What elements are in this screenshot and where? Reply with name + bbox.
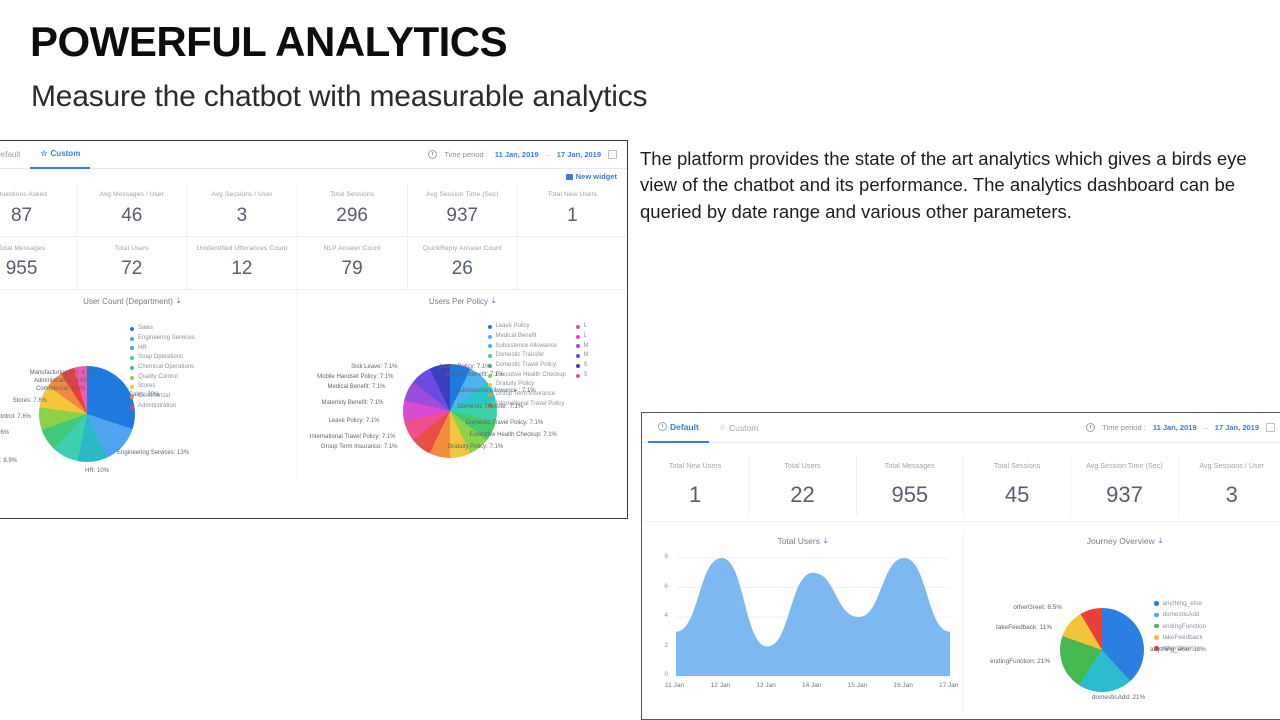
legend-item[interactable]: Subsistence Allowance [488,342,566,352]
clock-icon [1086,423,1095,432]
legend-color-swatch [130,366,134,370]
kpi-label: Total Messages [0,244,74,254]
dashboard1-topbar: Default ☆ Custom Time period : 11 Jan, 2… [0,141,627,169]
clock-icon [428,150,437,159]
legend-color-swatch [1154,601,1159,606]
kpi-value: 26 [410,258,515,280]
kpi-value: 87 [0,205,74,227]
y-axis-tick: 6 [656,583,668,590]
time-period-separator: – [1204,423,1208,432]
legend-color-swatch [130,337,134,341]
pie-area: anything_elsedomesticAddendingFunctionta… [964,546,1280,720]
kpi-label: Total Users [79,244,184,254]
y-axis-tick: 4 [656,612,668,619]
x-axis-tick: 13 Jan [756,682,776,689]
legend-label: Executive Health Checkup [496,371,566,381]
legend-label: Leave Policy [496,322,530,332]
download-icon[interactable]: ⤓ [824,536,828,546]
kpi-empty-slot [518,237,627,290]
time-period-label: Time period : [444,150,488,159]
pie-slice-label: Medical Benefit: 7.1% [446,372,504,378]
pie-slice-label: Group Term Insurance: 7.1% [321,444,398,450]
pie-slice-label: Gratuity Policy: 7.1% [448,444,504,450]
tab-default-label: Default [0,150,20,159]
legend-item[interactable]: L [576,322,589,332]
legend-label: Engineering Services [138,334,195,344]
legend-color-swatch [488,335,492,339]
area-chart-svg[interactable] [642,550,964,700]
tab-custom-label: Custom [51,149,81,158]
chart-title: User Count (Department) ⤓ [0,296,297,306]
chart-user-count-department: User Count (Department) ⤓ SalesEngineeri… [0,290,297,480]
kpi-value: 937 [1073,482,1175,508]
pie-legend-department: SalesEngineering ServicesHRSoap Operatio… [130,324,195,411]
kpi-label: Total Users [751,462,853,472]
legend-item[interactable]: S [576,361,589,371]
pie-slice-label: Executive Health Checkup: 7.1% [470,432,557,438]
time-period-start[interactable]: 11 Jan, 2019 [495,150,539,159]
kpi-value: 296 [300,205,405,227]
legend-color-swatch [576,374,580,378]
legend-label: domesticAdd [1163,609,1200,620]
pie-slice-label: Medical Benefit: 7.1% [327,384,385,390]
legend-color-swatch [130,346,134,350]
pie-area: SalesEngineering ServicesHRSoap Operatio… [0,306,297,490]
kpi-value: 955 [0,258,74,280]
pie-slice-label: Soap Operations: 8.9% [0,458,17,464]
description-paragraph: The platform provides the state of the a… [640,146,1262,225]
legend-color-swatch [576,325,580,329]
pie-slice-label: Mobile Handset Policy: 7.1% [317,374,393,380]
kpi-label: Avg Sessions / User [1181,462,1280,472]
pie-slice-label: Quality Control: 7.6% [0,414,31,420]
kpi-total-sessions: Total Sessions 296 [298,183,408,236]
pie-slice-label: Leave Policy: 7.1% [440,364,491,370]
kpi-value: 79 [300,258,405,280]
legend-label: Domestic Transfer [496,351,545,361]
pie-slice-label: Leave Policy: 7.1% [328,418,379,424]
legend-color-swatch [1154,613,1159,618]
legend-label: Subsistence Allowance [496,342,557,352]
legend-item[interactable]: Medical Benefit [488,332,566,342]
pie-slice-label: Subsistence Allowance : 7.1% [456,388,536,394]
legend-label: S [584,361,588,371]
kpi-label: Avg Session Time (Sec) [410,190,515,200]
page-subtitle: Measure the chatbot with measurable anal… [31,80,647,114]
time-period-end[interactable]: 17 Jan, 2019 [1215,423,1259,432]
kpi-value: 72 [79,258,184,280]
kpi-label: NLP Answer Count [300,244,405,254]
legend-label: Medical Benefit [496,332,537,342]
pie-legend-policy-secondary: LLMMSS [576,322,589,380]
analytics-dashboard-screenshot-2: Default ☆ Custom Time period : 11 Jan, 2… [641,412,1280,720]
legend-label: Administration [138,402,176,412]
kpi-avg-messages-per-user: Avg Messages / User 46 [77,183,187,236]
pie-legend-policy: Leave PolicyMedical BenefitSubsistence A… [488,322,566,409]
dashboard1-kpi-row-2: Total Messages 955 Total Users 72 Uniden… [0,236,627,291]
legend-label: Chemical Operations [138,363,194,373]
legend-item[interactable]: Quality Control [130,373,195,383]
dashboard1-charts: User Count (Department) ⤓ SalesEngineeri… [0,290,627,480]
legend-item[interactable]: L [576,332,589,342]
legend-color-swatch [130,385,134,389]
calendar-icon[interactable] [1266,423,1275,432]
tab-custom[interactable]: ☆ Custom [30,140,90,169]
kpi-value: 1 [520,205,625,227]
kpi-total-new-users: Total New Users 1 [642,455,749,517]
legend-color-swatch [576,344,580,348]
legend-item[interactable]: Sales [130,324,195,334]
tab-default-label: Default [670,422,699,432]
legend-label: Stores [138,382,155,392]
legend-item[interactable]: Leave Policy [488,322,566,332]
chart-users-per-policy: Users Per Policy ⤓ Leave PolicyMedical B… [297,290,628,480]
kpi-avg-session-time: Avg Session Time (Sec) 937 [1071,455,1178,517]
pie-slice-label: Manufacturing HR: 4.5% [30,370,95,376]
kpi-total-users: Total Users 72 [77,237,187,290]
pie-slice-label: Commercial: 6.0% [36,386,85,392]
clock-icon [658,422,667,431]
legend-label: L [584,322,587,332]
x-axis-tick: 17 Jan [939,682,959,689]
area-chart-area[interactable]: 02468 11 Jan12 Jan13 Jan14 Jan15 Jan16 J… [642,546,963,720]
pie-slice-label: endingFunction: 21% [990,658,1050,665]
pie-slice-label: Stores: 7.6% [13,398,47,404]
x-axis-tick: 14 Jan [802,682,822,689]
pie-slice-label: Domestic Transfer: 7.1% [458,404,524,410]
chart-title: Journey Overview ⤓ [964,536,1280,546]
kpi-quickreply-answer-count: QuickReply Answer Count 26 [408,237,518,290]
chart-title-text: Journey Overview [1087,536,1155,546]
analytics-dashboard-screenshot-1: Default ☆ Custom Time period : 11 Jan, 2… [0,140,628,519]
kpi-total-new-users: Total New Users 1 [518,183,627,236]
chart-title-text: Users Per Policy [429,297,488,306]
legend-color-swatch [130,405,134,409]
star-icon: ☆ [40,150,47,158]
pie-slice-label: Sick Leave: 7.1% [351,364,397,370]
legend-label: Quality Control [138,373,178,383]
legend-label: endingFunction [1163,621,1207,632]
pie-slice-label: anything_else: 38% [1150,646,1206,653]
kpi-value: 45 [966,482,1068,508]
dashboard2-kpi-row: Total New Users 1 Total Users 22 Total M… [642,455,1280,522]
legend-item[interactable]: Engineering Services [130,334,195,344]
y-axis-tick: 0 [656,671,668,678]
slide-root: POWERFUL ANALYTICS Measure the chatbot w… [0,0,1280,720]
x-axis-tick: 11 Jan [665,682,684,689]
y-axis-tick: 2 [656,642,668,649]
legend-color-swatch [130,356,134,360]
legend-color-swatch [1154,635,1159,640]
time-period-selector[interactable]: Time period : 11 Jan, 2019 – 17 Jan, 201… [428,150,621,159]
time-period-separator: – [546,150,550,159]
time-period-start[interactable]: 11 Jan, 2019 [1153,423,1197,432]
dashboard1-kpi-row-1: Questions Asked 87 Avg Messages / User 4… [0,183,627,236]
time-period-label: Time period : [1102,423,1146,432]
legend-item[interactable]: M [576,351,589,361]
kpi-unidentified-utterances-count: Unidentified Utterances Count 12 [187,237,297,290]
kpi-label: Total Sessions [966,462,1068,472]
pie-slice-label: HR: 10% [85,468,109,474]
kpi-label: Total New Users [520,190,625,200]
kpi-total-messages: Total Messages 955 [0,237,77,290]
pie-slice-label: Administration: 4.6% [34,378,89,384]
legend-color-swatch [576,364,580,368]
legend-color-swatch [1154,624,1159,629]
legend-item[interactable]: Domestic Travel Policy [488,361,566,371]
chart-total-users-trend: Total Users ⤓ 02468 11 Jan12 Jan13 Jan14… [642,530,963,712]
legend-color-swatch [488,325,492,329]
pie-slice-label: Chemical Operations: 7.6% [0,430,9,436]
kpi-avg-session-time: Avg Session Time (Sec) 937 [408,183,518,236]
kpi-value: 3 [189,205,294,227]
pie-slice-label: Domestic Travel Policy: 7.1% [466,420,544,426]
pie-slice-label: International Travel Policy: 7.1% [310,434,396,440]
kpi-total-users: Total Users 22 [749,455,856,517]
kpi-value: 937 [410,205,515,227]
kpi-avg-sessions-per-user: Avg Sessions / User 3 [1179,455,1280,517]
y-axis-tick: 8 [656,553,668,560]
chart-title: Total Users ⤓ [642,536,963,546]
legend-item[interactable]: anything_else [1154,598,1206,609]
calendar-icon[interactable] [608,150,617,159]
pie-slice-label: Engineering Services: 13% [117,450,189,456]
kpi-label: Total Sessions [300,190,405,200]
new-widget-button[interactable]: New widget [566,172,617,181]
x-axis-tick: 15 Jan [848,682,868,689]
download-icon[interactable]: ⤓ [177,296,181,306]
legend-color-swatch [130,376,134,380]
dashboard2-topbar: Default ☆ Custom Time period : 11 Jan, 2… [642,413,1280,443]
kpi-label: Avg Session Time (Sec) [1073,462,1175,472]
legend-item[interactable]: Chemical Operations [130,363,195,373]
time-period-selector[interactable]: Time period : 11 Jan, 2019 – 17 Jan, 201… [1086,423,1279,432]
pie-slice-label: Sales: 30% [129,392,159,398]
page-title: POWERFUL ANALYTICS [30,18,507,66]
tab-custom-label: Custom [729,423,758,433]
kpi-label: Total New Users [644,462,746,472]
kpi-nlp-answer-count: NLP Answer Count 79 [298,237,408,290]
kpi-label: QuickReply Answer Count [410,244,515,254]
legend-label: Sales [138,324,153,334]
x-axis-tick: 12 Jan [711,682,731,689]
pie-chart-journey[interactable] [1060,608,1144,692]
legend-item[interactable]: Soap Operations [130,353,195,363]
new-widget-label: New widget [576,172,617,181]
legend-label: S [584,371,588,381]
pie-slice-label: domesticAdd: 21% [1092,694,1145,701]
tab-default[interactable]: Default [0,141,30,168]
legend-label: takeFeedback [1163,632,1203,643]
kpi-value: 12 [189,258,294,280]
dashboard2-charts: Total Users ⤓ 02468 11 Jan12 Jan13 Jan14… [642,530,1280,712]
star-icon: ☆ [719,424,726,432]
legend-item[interactable]: Domestic Transfer [488,351,566,361]
kpi-value: 955 [859,482,961,508]
kpi-questions-asked: Questions Asked 87 [0,183,77,236]
chart-icon [566,174,573,180]
pie-slice-label: otherGreet: 8.5% [1013,604,1062,611]
download-icon[interactable]: ⤓ [1159,536,1163,546]
legend-label: M [584,351,589,361]
pie-area: Leave PolicyMedical BenefitSubsistence A… [298,306,628,490]
legend-color-swatch [488,354,492,358]
legend-item[interactable]: takeFeedback [1154,632,1206,643]
kpi-label: Questions Asked [0,190,74,200]
kpi-value: 46 [79,205,184,227]
kpi-label: Total Messages [859,462,961,472]
pie-slice-label: Maternity Benefit: 7.1% [321,400,383,406]
chart-journey-overview: Journey Overview ⤓ anything_elsedomestic… [963,530,1280,712]
kpi-label: Avg Messages / User [79,190,184,200]
legend-label: anything_else [1163,598,1202,609]
legend-label: L [584,332,587,342]
legend-item[interactable]: S [576,371,589,381]
pie-slice-label: takeFeedback: 11% [996,624,1052,631]
x-axis-tick: 16 Jan [893,682,913,689]
legend-item[interactable]: Administration [130,402,195,412]
tab-default[interactable]: Default [648,412,709,443]
kpi-total-messages: Total Messages 955 [857,455,964,517]
chart-title-text: User Count (Department) [83,297,173,306]
legend-item[interactable]: Stores [130,382,195,392]
kpi-total-sessions: Total Sessions 45 [964,455,1071,517]
legend-item[interactable]: domesticAdd [1154,609,1206,620]
legend-label: Soap Operations [138,353,183,363]
legend-color-swatch [576,354,580,358]
legend-color-swatch [576,335,580,339]
legend-item[interactable]: M [576,342,589,352]
legend-label: HR [138,344,147,354]
kpi-value: 1 [644,482,746,508]
kpi-label: Unidentified Utterances Count [189,244,294,254]
kpi-label: Avg Sessions / User [189,190,294,200]
legend-color-swatch [488,344,492,348]
time-period-end[interactable]: 17 Jan, 2019 [557,150,601,159]
chart-title-text: Total Users [777,536,820,546]
legend-item[interactable]: HR [130,344,195,354]
legend-item[interactable]: endingFunction [1154,621,1206,632]
legend-label: M [584,342,589,352]
kpi-value: 3 [1181,482,1280,508]
legend-label: Domestic Travel Policy [496,361,557,371]
legend-color-swatch [488,383,492,387]
kpi-avg-sessions-per-user: Avg Sessions / User 3 [187,183,297,236]
tab-custom[interactable]: ☆ Custom [709,413,768,442]
chart-title: Users Per Policy ⤓ [298,296,628,306]
kpi-value: 22 [751,482,853,508]
download-icon[interactable]: ⤓ [492,296,496,306]
legend-color-swatch [130,327,134,331]
